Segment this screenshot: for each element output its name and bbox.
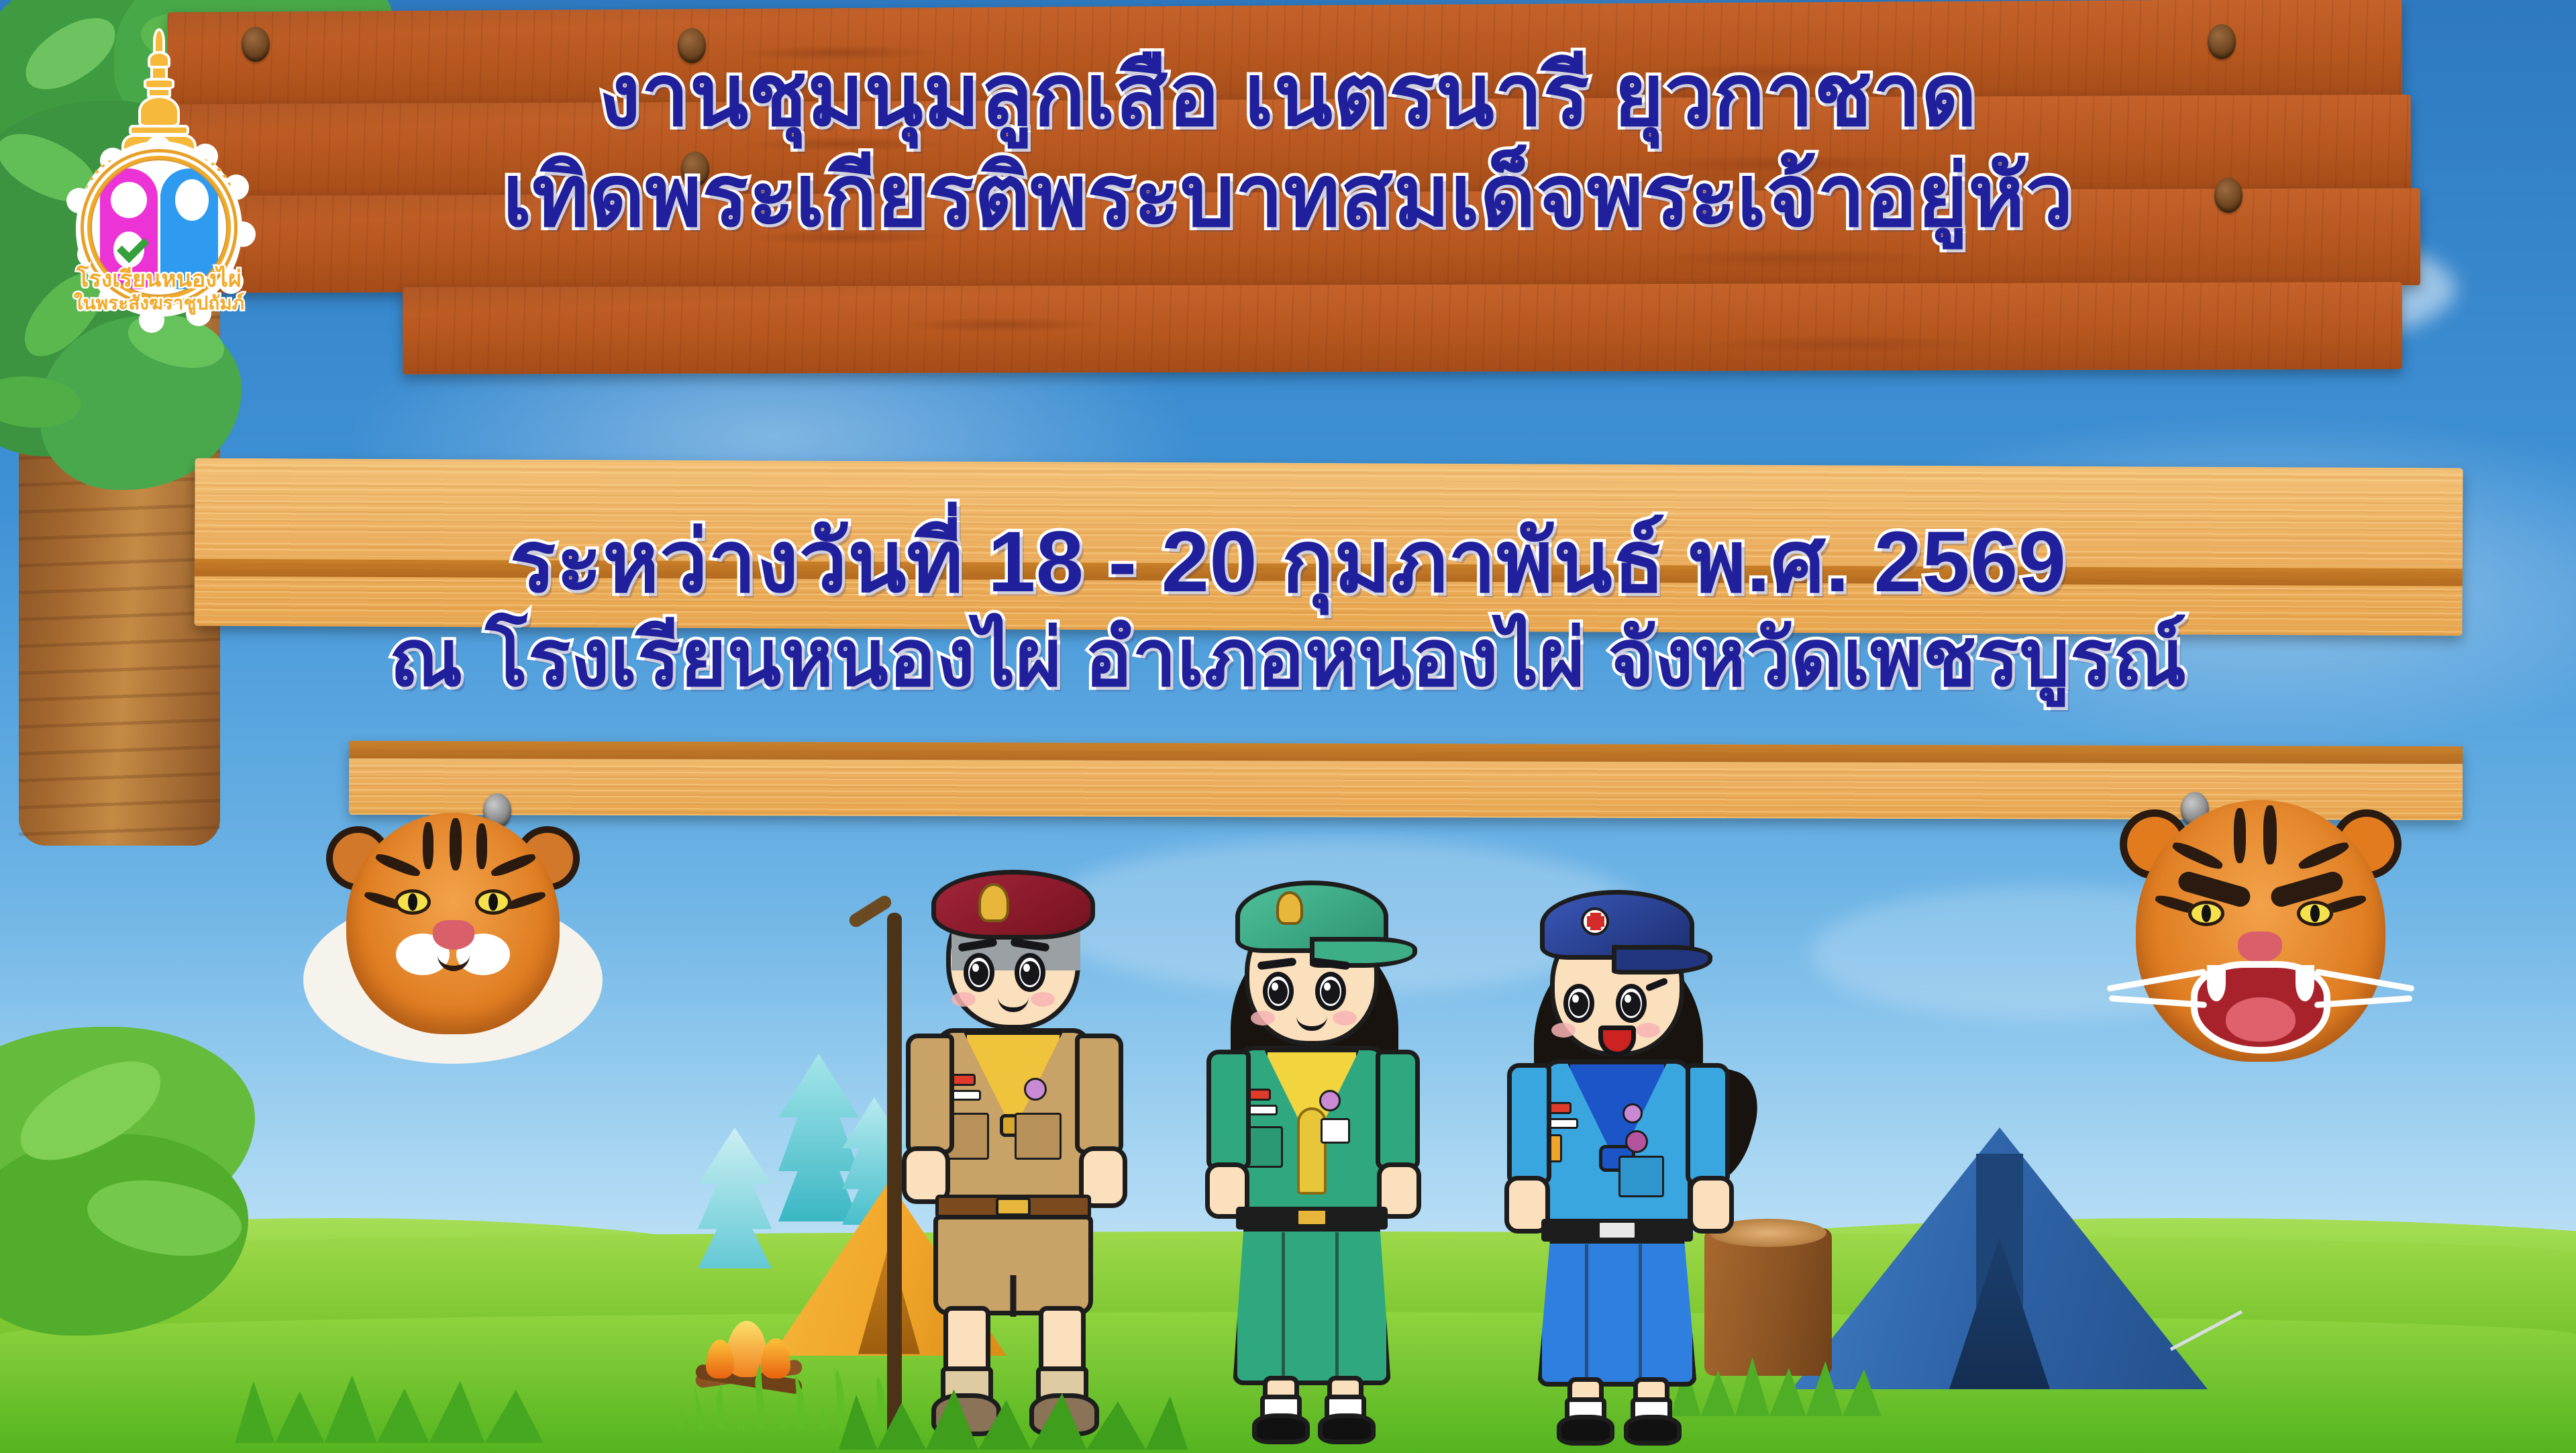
scout-pocket	[1015, 1113, 1062, 1160]
beret-emblem-icon	[978, 883, 1009, 922]
guide-eye	[1315, 972, 1346, 1011]
redcross-shoe	[1557, 1415, 1614, 1446]
tent-icon	[1792, 1128, 2208, 1389]
tiger-head-icon	[322, 795, 584, 1064]
campfire-icon	[691, 1315, 805, 1396]
guide-cheek	[1333, 1011, 1357, 1025]
guide-shoe	[1318, 1413, 1376, 1444]
red-cross-symbol-icon	[1587, 916, 1604, 927]
scout-eye	[964, 953, 994, 992]
tiger-head-roaring-icon	[2113, 785, 2408, 1087]
scout-badge	[1024, 1078, 1047, 1101]
guide-cheek	[1251, 1011, 1275, 1025]
boy-scout-character	[899, 832, 1127, 1436]
tiger-fang-icon	[2296, 965, 2314, 1001]
tiger-eye	[395, 889, 431, 915]
tiger-tongue-icon	[2226, 997, 2296, 1042]
tiger-stripe	[2263, 805, 2277, 864]
scout-staff-icon	[887, 913, 902, 1443]
event-banner: งานชุมนุมลูกเสือ เนตรนารี ยุวกาชาด เทิดพ…	[0, 0, 2576, 1453]
sign-plank-top-4	[403, 282, 2402, 374]
scout-arm	[1075, 1034, 1123, 1154]
tiger-stripe	[450, 818, 462, 870]
guide-arm	[1206, 1050, 1251, 1170]
guide-skirt-pleat	[1335, 1232, 1339, 1380]
tiger-stripe	[423, 822, 433, 869]
guide-badge	[1319, 1090, 1341, 1111]
redcross-pocket	[1618, 1156, 1664, 1197]
beret-icon	[931, 870, 1095, 940]
guide-skirt-pleat	[1282, 1232, 1285, 1380]
redcross-skirt	[1537, 1239, 1697, 1387]
guide-arm	[1376, 1050, 1420, 1170]
redcross-badge	[1622, 1103, 1643, 1123]
scout-arm	[906, 1034, 954, 1154]
tiger-eye	[475, 889, 511, 915]
junior-red-cross-character	[1503, 846, 1731, 1436]
redcross-arm	[1507, 1063, 1551, 1185]
guide-eye	[1263, 972, 1294, 1011]
scout-shorts-split	[1011, 1275, 1017, 1317]
redcross-eye	[1563, 984, 1594, 1023]
cap-emblem-icon	[1276, 891, 1303, 925]
redcross-cheek	[1636, 1023, 1660, 1038]
tiger-nose-icon	[2238, 932, 2282, 962]
scout-belt-buckle-icon	[996, 1197, 1031, 1216]
tiger-nose-icon	[433, 920, 474, 950]
redcross-skirt-pleat	[1585, 1244, 1588, 1381]
tiger-eye	[2297, 901, 2333, 926]
scout-cheek	[1031, 992, 1055, 1007]
scout-cheek	[951, 992, 976, 1007]
tiger-stripe	[2234, 808, 2246, 863]
redcross-arm	[1686, 1063, 1730, 1185]
school-emblem-icon: โรงเรียนหนองไผ่ ในพระสังฆราชูปถัมภ์	[42, 28, 276, 317]
cap-brim-icon	[1612, 945, 1712, 974]
guide-belt-buckle-icon	[1296, 1208, 1328, 1227]
event-venue-line: ณ โรงเรียนหนองไผ่ อำเภอหนองไผ่ จังหวัดเพ…	[0, 594, 2576, 720]
title-line-2: เทิดพระเกียรติพระบาทสมเด็จพระเจ้าอยู่หัว	[0, 128, 2576, 264]
girl-guide-character	[1201, 839, 1423, 1436]
emblem-patronage: ในพระสังฆราชูปถัมภ์	[45, 289, 273, 318]
tiger-eye	[2188, 901, 2224, 926]
redcross-shoe	[1624, 1415, 1682, 1446]
redcross-eye	[1616, 984, 1647, 1023]
wooden-signboard: งานชุมนุมลูกเสือ เนตรนารี ยุวกาชาด เทิดพ…	[0, 0, 2576, 812]
redcross-belt-buckle-icon	[1597, 1220, 1637, 1240]
redcross-badge	[1625, 1130, 1648, 1153]
tiger-fang-icon	[2207, 965, 2226, 1001]
guide-badge	[1321, 1118, 1350, 1144]
tiger-stripe	[476, 823, 487, 869]
redcross-cheek	[1551, 1023, 1576, 1038]
pine-tree-icon	[698, 1128, 772, 1268]
redcross-skirt-pleat	[1639, 1244, 1642, 1381]
guide-shoe	[1252, 1413, 1310, 1444]
redcross-hand	[1688, 1176, 1734, 1234]
scout-eye	[1015, 953, 1045, 992]
guide-skirt	[1233, 1227, 1391, 1385]
